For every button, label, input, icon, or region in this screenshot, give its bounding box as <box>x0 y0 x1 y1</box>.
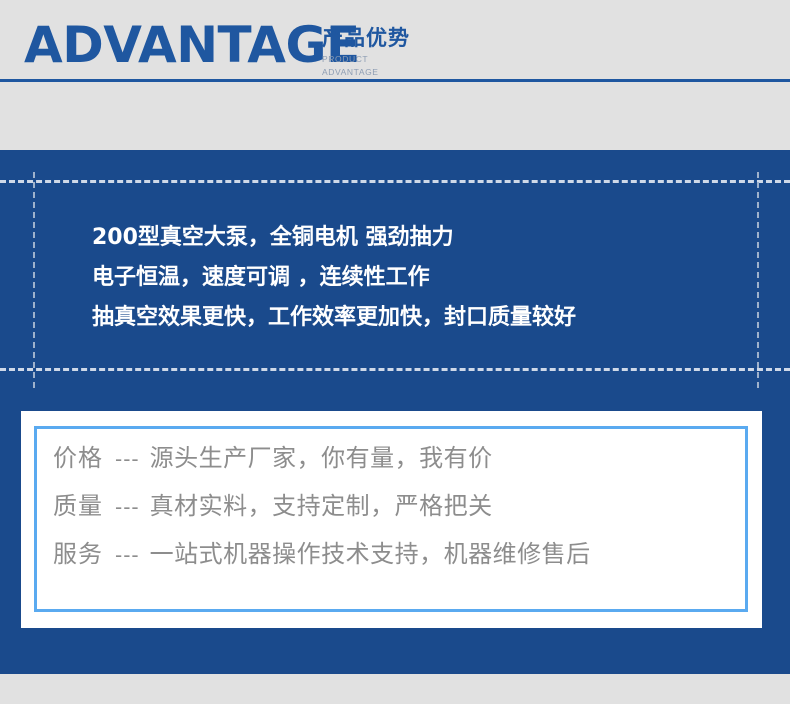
dashed-line-right <box>757 172 759 388</box>
benefits-list: 价格 --- 源头生产厂家，你有量，我有价 质量 --- 真材实料，支持定制，严… <box>53 435 591 579</box>
feature-line: 200型真空大泵，全铜电机 强劲抽力 <box>92 218 576 258</box>
header-subtitle-cn: 产品优势 <box>322 26 472 51</box>
benefit-label: 质量 <box>53 483 103 530</box>
benefit-value: 源头生产厂家，你有量，我有价 <box>150 435 493 482</box>
header-subtitle-group: 产品优势 PRODUCT ADVANTAGE <box>322 26 472 77</box>
feature-line: 电子恒温，速度可调 ，连续性工作 <box>92 258 576 298</box>
header-subtitle-en-line2: ADVANTAGE <box>322 67 472 77</box>
header-subtitle-en-line1: PRODUCT <box>322 54 472 64</box>
dashed-line-top <box>0 180 790 183</box>
feature-line: 抽真空效果更快，工作效率更加快，封口质量较好 <box>92 298 576 338</box>
footer-spacer <box>0 674 790 704</box>
benefits-card: 价格 --- 源头生产厂家，你有量，我有价 质量 --- 真材实料，支持定制，严… <box>21 411 762 628</box>
list-item: 服务 --- 一站式机器操作技术支持，机器维修售后 <box>53 531 591 579</box>
benefit-value: 一站式机器操作技术支持，机器维修售后 <box>150 531 591 578</box>
page-title: ADVANTAGE <box>24 16 360 74</box>
page-header: ADVANTAGE 产品优势 PRODUCT ADVANTAGE <box>0 0 790 79</box>
benefit-separator: --- <box>103 436 150 483</box>
dashed-line-left <box>33 172 35 388</box>
dashed-line-bottom <box>0 368 790 371</box>
advantage-page: ADVANTAGE 产品优势 PRODUCT ADVANTAGE 200型真空大… <box>0 0 790 704</box>
benefit-separator: --- <box>103 484 150 531</box>
header-divider <box>0 79 790 82</box>
benefit-label: 服务 <box>53 531 103 578</box>
benefit-label: 价格 <box>53 435 103 482</box>
benefit-separator: --- <box>103 532 150 579</box>
list-item: 质量 --- 真材实料，支持定制，严格把关 <box>53 483 591 531</box>
feature-list: 200型真空大泵，全铜电机 强劲抽力 电子恒温，速度可调 ，连续性工作 抽真空效… <box>92 218 576 338</box>
list-item: 价格 --- 源头生产厂家，你有量，我有价 <box>53 435 591 483</box>
benefit-value: 真材实料，支持定制，严格把关 <box>150 483 493 530</box>
